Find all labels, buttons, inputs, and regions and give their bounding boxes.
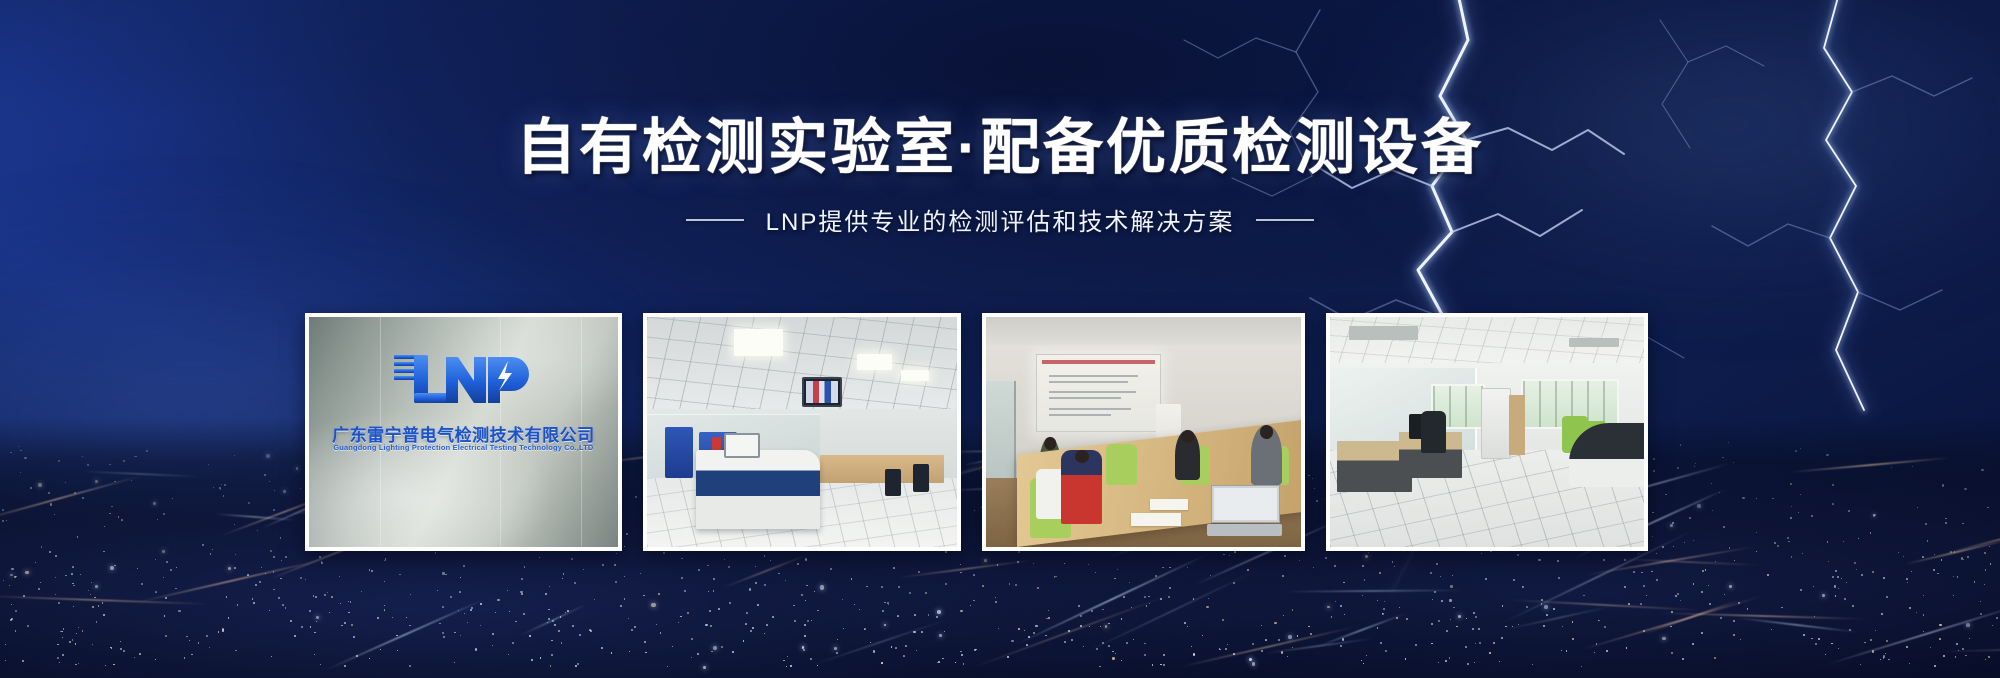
ceiling-light [901, 370, 929, 382]
ceiling-vent [1349, 326, 1418, 340]
photo-gallery: 广东雷宁普电气检测技术有限公司 Guangdong Lighting Prote… [305, 313, 1648, 551]
glass-door [986, 381, 1016, 482]
gallery-item-laboratory[interactable] [643, 313, 961, 551]
test-rig [665, 427, 693, 478]
laptop-screen [1211, 485, 1280, 523]
slide-line [1049, 397, 1120, 399]
gallery-item-logo-wall[interactable]: 广东雷宁普电气检测技术有限公司 Guangdong Lighting Prote… [305, 313, 622, 551]
right-rule-icon [1256, 219, 1314, 221]
slide-line [1049, 391, 1135, 393]
lab-chair [913, 464, 928, 492]
document [1131, 513, 1182, 527]
page-subtitle: LNP提供专业的检测评估和技术解决方案 [766, 202, 1235, 237]
photo-training-meeting-room [986, 317, 1302, 547]
photo-testing-laboratory [647, 317, 957, 547]
gallery-item-meeting-room[interactable] [982, 313, 1306, 551]
hero-banner: 自有检测实验室·配备优质检测设备 LNP提供专业的检测评估和技术解决方案 [0, 0, 2000, 678]
ceiling-light [857, 354, 891, 370]
slide-line [1049, 408, 1130, 410]
photo-company-logo-wall: 广东雷宁普电气检测技术有限公司 Guangdong Lighting Prote… [309, 317, 618, 547]
attendee-person [1175, 430, 1200, 481]
person-head [1260, 425, 1274, 439]
page-title: 自有检测实验室·配备优质检测设备 [0, 118, 2000, 178]
slide-line [1049, 414, 1111, 416]
shelf [1509, 395, 1525, 455]
gallery-item-office[interactable] [1326, 313, 1648, 551]
person-head [1075, 450, 1089, 463]
console-screen [724, 433, 760, 457]
headline-block: 自有检测实验室·配备优质检测设备 LNP提供专业的检测评估和技术解决方案 [0, 118, 2000, 237]
slide-title-bar [1042, 360, 1155, 364]
subtitle-row: LNP提供专业的检测评估和技术解决方案 [0, 202, 2000, 237]
chair [1106, 444, 1138, 485]
company-name-en: Guangdong Lighting Protection Electrical… [309, 443, 618, 452]
control-console [696, 450, 820, 528]
office-worker [1421, 411, 1446, 452]
attendee-person [1061, 450, 1102, 524]
storage-cabinet [1481, 388, 1511, 459]
laptop-keyboard [1207, 524, 1283, 535]
photo-open-office [1330, 317, 1644, 547]
laptop-icon [1207, 485, 1283, 536]
wall-monitor-icon [802, 377, 842, 407]
left-rule-icon [686, 219, 744, 221]
ceiling-vent [1569, 338, 1619, 347]
lnp-lightning-logo-icon [388, 347, 538, 419]
person-head [1181, 430, 1194, 443]
slide-line [1049, 381, 1128, 383]
projection-screen [1036, 354, 1161, 432]
attendee-person [1251, 425, 1283, 485]
ceiling-light [734, 329, 784, 357]
person-head [1045, 437, 1056, 450]
document [1150, 499, 1188, 511]
lab-chair [885, 469, 900, 497]
slide-line [1049, 375, 1138, 377]
